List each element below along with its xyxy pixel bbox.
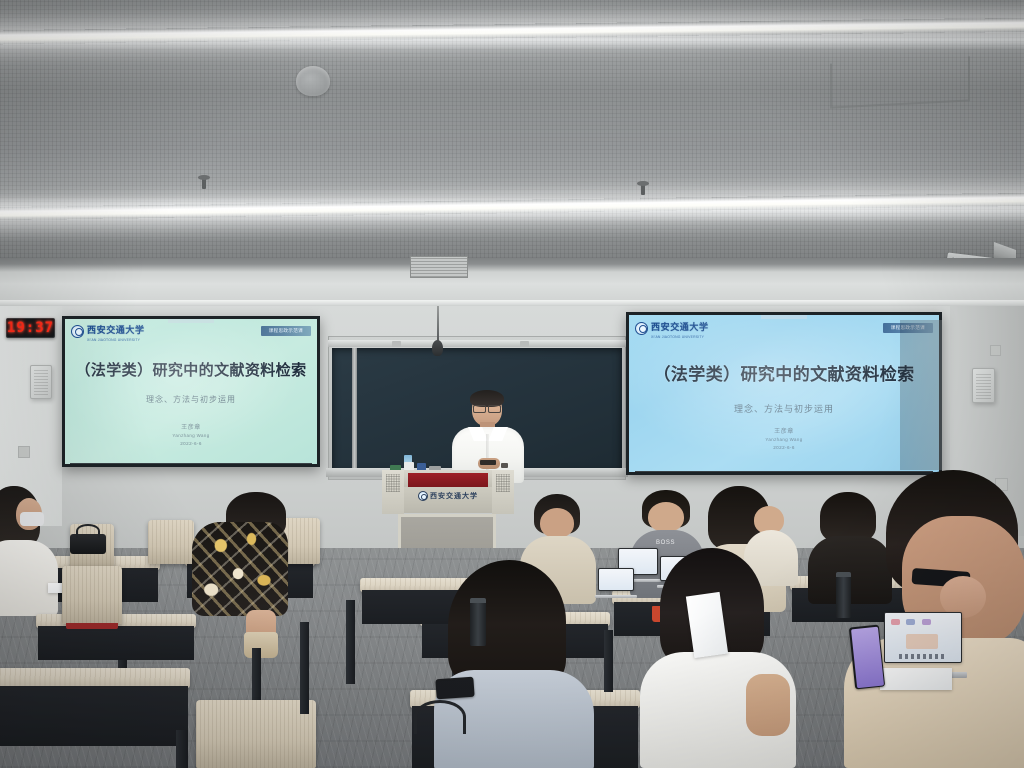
university-logo: 西安交通大学 XI'AN JIAOTONG UNIVERSITY	[635, 317, 709, 339]
student-hair	[448, 560, 566, 688]
chalkboard-clip	[520, 341, 529, 347]
desk-top	[0, 668, 190, 688]
desk-leg	[300, 622, 309, 714]
thermos-bottle	[836, 576, 851, 618]
screen-bottom-bar	[70, 463, 312, 467]
laptop	[598, 568, 634, 598]
desk-front-panel	[0, 686, 188, 746]
chalkboard-slide-rail	[328, 340, 626, 347]
student	[0, 486, 60, 616]
slide-title: （法学类）研究中的文献资料检索	[654, 360, 915, 385]
laptop-base	[595, 595, 636, 598]
thermos-bottle	[470, 602, 486, 646]
student	[448, 560, 588, 768]
slide-left: 西安交通大学 XI'AN JIAOTONG UNIVERSITY 课程思政示范课…	[65, 319, 317, 464]
lectern-side-left	[382, 470, 404, 514]
backpack-strap	[76, 524, 100, 538]
seat-back	[62, 566, 122, 624]
tablet-toolbar	[891, 619, 955, 625]
student-arm	[746, 674, 790, 736]
smartphone	[849, 625, 885, 690]
university-seal-icon	[635, 322, 648, 335]
face-mask-icon	[20, 512, 44, 526]
wall-air-vent	[410, 256, 468, 278]
slide-date: 2022-6-6	[172, 441, 209, 446]
notebook	[880, 668, 952, 690]
chalkboard-divider	[352, 348, 357, 470]
tablet-screen	[884, 612, 962, 663]
university-logo: 西安交通大学 XI'AN JIAOTONG UNIVERSITY	[71, 320, 145, 342]
slide-author-block: 王彦章 Yanzhang Wang 2022-6-6	[172, 422, 209, 446]
university-seal-icon	[418, 491, 428, 501]
student	[650, 548, 790, 768]
phone-screen	[437, 678, 473, 697]
slide-author-en: Yanzhang Wang	[172, 433, 209, 438]
digital-wall-clock: 19:37	[6, 318, 55, 338]
projection-screen-right: 西安交通大学 XI'AN JIAOTONG UNIVERSITY 课程思政示范课…	[626, 312, 942, 475]
ceiling-vent-icon	[296, 66, 330, 96]
seat-back	[196, 700, 316, 768]
desk	[0, 668, 190, 768]
presenter-clicker	[480, 460, 496, 465]
student	[186, 492, 296, 672]
ceiling	[0, 0, 1024, 262]
sprinkler-icon	[202, 178, 206, 189]
presenter	[446, 392, 530, 482]
slide-author: 王彦章	[765, 426, 802, 435]
desk-leg	[176, 730, 188, 768]
microphone-cable	[437, 306, 439, 342]
screen-notch	[761, 315, 807, 319]
toolbar-icon	[891, 619, 900, 625]
lectern-side-right	[492, 470, 514, 514]
bag-strap	[414, 700, 466, 734]
slide-header: 西安交通大学 XI'AN JIAOTONG UNIVERSITY 课程思政示范课	[629, 315, 939, 342]
university-name-en: XI'AN JIAOTONG UNIVERSITY	[87, 338, 145, 342]
university-name: 西安交通大学	[651, 323, 709, 333]
slide-badge: 课程思政示范课	[883, 323, 933, 333]
desk-leg	[346, 600, 355, 684]
slide-author-en: Yanzhang Wang	[765, 437, 802, 442]
lecture-hall-photo: 19:37 西安交通大学 XI'AN JIAOTONG UNIVERSITY	[0, 0, 1024, 768]
slide-header: 西安交通大学 XI'AN JIAOTONG UNIVERSITY 课程思政示范课	[65, 319, 317, 344]
wall-speaker-right	[972, 368, 995, 403]
slide-body: （法学类）研究中的文献资料检索 理念、方法与初步运用 王彦章 Yanzhang …	[65, 344, 317, 464]
desk-leg	[604, 630, 613, 692]
student-head	[540, 508, 574, 538]
university-name-en: XI'AN JIAOTONG UNIVERSITY	[651, 335, 709, 339]
lectern-university-name: 西安交通大学	[430, 491, 478, 501]
sprinkler-icon	[641, 184, 645, 195]
wall-outlet-plate	[990, 345, 1001, 356]
slide-subtitle: 理念、方法与初步运用	[734, 402, 834, 415]
slide-body: （法学类）研究中的文献资料检索 理念、方法与初步运用 王彦章 Yanzhang …	[629, 342, 939, 472]
slide-title: （法学类）研究中的文献资料检索	[75, 359, 306, 380]
wristwatch-icon	[501, 463, 508, 468]
hanging-microphone-icon	[432, 340, 443, 356]
student-boot	[244, 632, 278, 658]
university-name: 西安交通大学	[87, 326, 145, 336]
toolbar-icon	[922, 619, 931, 625]
tablet-content-block	[906, 634, 938, 649]
ceiling-access-hatch	[830, 56, 970, 108]
desk-front-panel	[38, 626, 194, 660]
eyeglasses-icon	[473, 405, 501, 411]
seat-cushion	[66, 623, 119, 629]
chalkboard-clip	[392, 341, 401, 347]
student-head	[648, 502, 684, 532]
shirt-logo-text: BOSS	[656, 540, 675, 546]
slide-badge: 课程思政示范课	[261, 326, 311, 336]
student-torso	[0, 540, 58, 616]
student-patterned-dress	[192, 522, 288, 616]
wall-outlet-plate	[18, 446, 30, 458]
university-seal-icon	[71, 325, 84, 338]
slide-author: 王彦章	[172, 422, 209, 431]
clock-time: 19:37	[7, 320, 54, 336]
lectern-university-logo: 西安交通大学	[418, 491, 478, 501]
wall-speaker-left	[30, 365, 52, 399]
slide-right: 西安交通大学 XI'AN JIAOTONG UNIVERSITY 课程思政示范课…	[629, 315, 939, 472]
lectern-accent-strip	[408, 473, 488, 487]
phone-screen	[850, 626, 883, 687]
slide-author-block: 王彦章 Yanzhang Wang 2022-6-6	[765, 426, 802, 450]
tablet-text-lines	[899, 654, 948, 658]
screen-notch	[168, 319, 214, 323]
slide-subtitle: 理念、方法与初步运用	[146, 394, 236, 405]
slide-date: 2022-6-6	[765, 445, 802, 450]
toolbar-icon	[906, 619, 915, 625]
smartphone	[435, 677, 474, 700]
projection-screen-left: 西安交通大学 XI'AN JIAOTONG UNIVERSITY 课程思政示范课…	[62, 316, 320, 467]
laptop-screen	[598, 568, 634, 591]
